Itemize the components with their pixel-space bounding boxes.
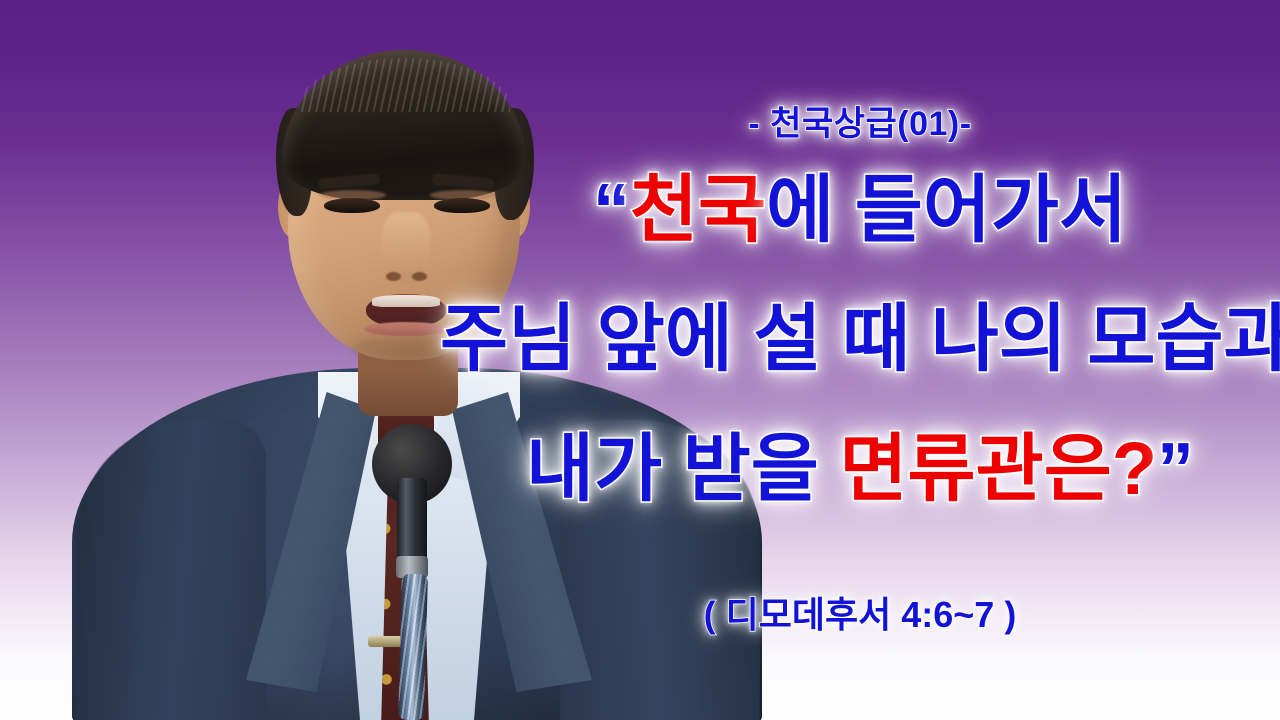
nostril-right (412, 272, 427, 281)
quote-line-2: 주님 앞에 설 때 나의 모습과 (440, 301, 1280, 376)
eye-left (324, 198, 380, 213)
quote-line-1-highlight: 천국 (630, 168, 766, 251)
suit-left-arm (76, 420, 266, 720)
quote-line-3: 내가 받을 면류관은?” (440, 431, 1280, 506)
quote-line-3-highlight: 면류관은? (839, 427, 1157, 510)
nostril-left (386, 272, 401, 281)
quote-line-1-rest: 에 들어가서 (766, 168, 1127, 251)
scripture-reference: ( 디모데후서 4:6~7 ) (440, 586, 1280, 638)
teeth (372, 295, 440, 307)
quote-close-mark: ” (1157, 427, 1194, 510)
quote-line-3-lead: 내가 받을 (526, 427, 839, 510)
quote-line-2-text: 주님 앞에 설 때 나의 모습과 (440, 297, 1280, 380)
video-thumbnail: - 천국상급(01)- “천국에 들어가서 주님 앞에 설 때 나의 모습과 내… (0, 0, 1280, 720)
series-kicker: - 천국상급(01)- (440, 96, 1280, 145)
text-overlay: - 천국상급(01)- “천국에 들어가서 주님 앞에 설 때 나의 모습과 내… (440, 0, 1280, 720)
microphone-cable (398, 574, 428, 720)
lower-lip (364, 322, 448, 336)
quote-open-mark: “ (593, 168, 630, 251)
quote-block: “천국에 들어가서 주님 앞에 설 때 나의 모습과 내가 받을 면류관은?” (440, 172, 1280, 506)
quote-line-1: “천국에 들어가서 (440, 172, 1280, 247)
